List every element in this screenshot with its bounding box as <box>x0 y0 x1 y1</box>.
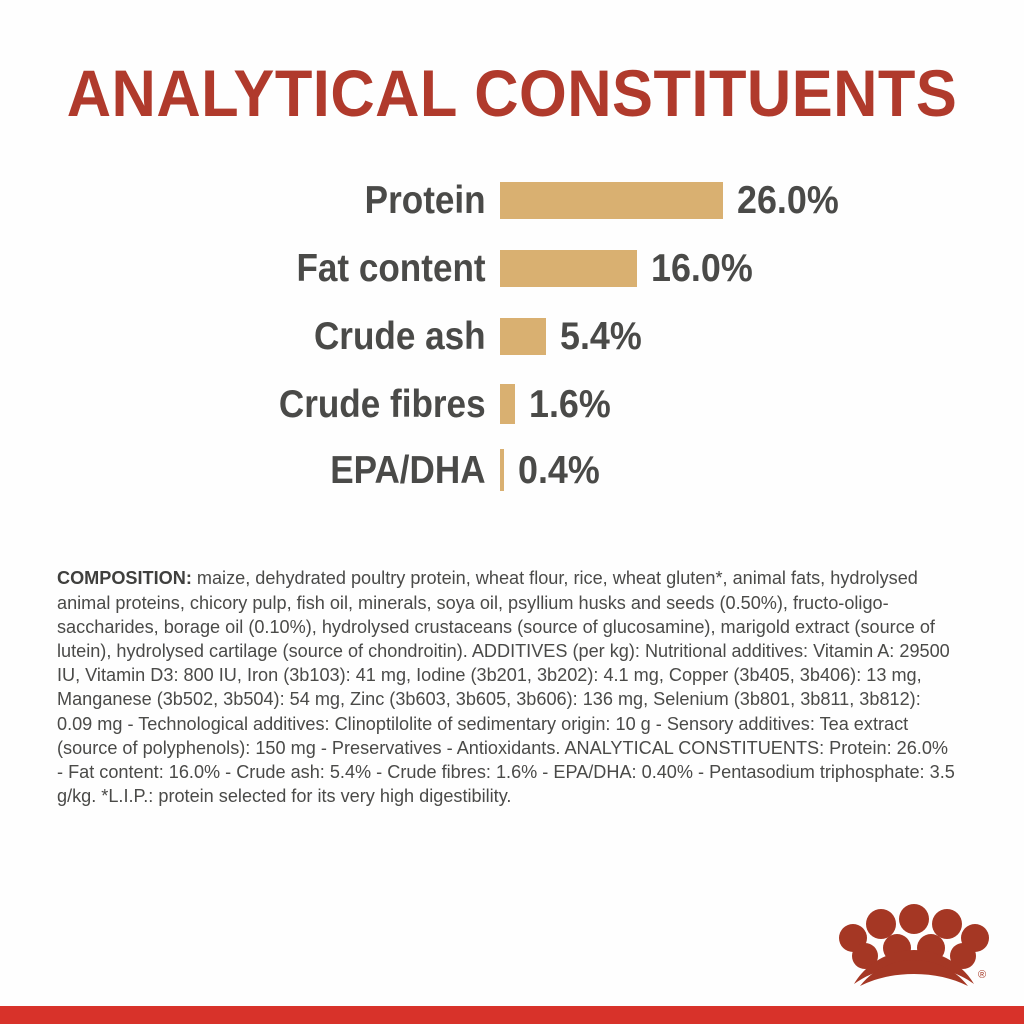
chart-label-crude-ash: Crude ash <box>50 317 500 356</box>
bottom-accent-bar <box>0 1006 1024 1024</box>
chart-bar-wrap-crude-ash: 5.4% <box>500 317 1024 356</box>
page-title: ANALYTICAL CONSTITUENTS <box>36 55 988 131</box>
chart-row-protein: Protein 26.0% <box>0 172 1024 228</box>
chart-bar-fat-content <box>500 250 637 287</box>
chart-bar-protein <box>500 182 723 219</box>
chart-value-protein: 26.0% <box>737 181 839 220</box>
chart-row-crude-ash: Crude ash 5.4% <box>0 308 1024 364</box>
chart-bar-wrap-fat-content: 16.0% <box>500 249 1024 288</box>
chart-value-epa-dha: 0.4% <box>518 451 600 490</box>
chart-row-crude-fibres: Crude fibres 1.6% <box>0 376 1024 432</box>
chart-row-epa-dha: EPA/DHA 0.4% <box>0 442 1024 498</box>
chart-row-fat-content: Fat content 16.0% <box>0 240 1024 296</box>
chart-bar-wrap-crude-fibres: 1.6% <box>500 384 1024 424</box>
chart-value-crude-fibres: 1.6% <box>529 385 611 424</box>
chart-label-epa-dha: EPA/DHA <box>50 451 500 490</box>
royal-canin-crown-logo: ® <box>838 900 990 986</box>
chart-bar-wrap-protein: 26.0% <box>500 181 1024 220</box>
composition-body: maize, dehydrated poultry protein, wheat… <box>57 567 955 806</box>
registered-mark: ® <box>978 969 986 981</box>
nutrition-panel: ANALYTICAL CONSTITUENTS Protein 26.0% Fa… <box>0 0 1024 1024</box>
chart-label-crude-fibres: Crude fibres <box>50 385 500 424</box>
chart-label-protein: Protein <box>50 181 500 220</box>
chart-bar-wrap-epa-dha: 0.4% <box>500 449 1024 491</box>
composition-paragraph: COMPOSITION: maize, dehydrated poultry p… <box>57 566 955 808</box>
chart-value-crude-ash: 5.4% <box>560 317 642 356</box>
chart-value-fat-content: 16.0% <box>651 249 753 288</box>
analytical-constituents-chart: Protein 26.0% Fat content 16.0% Crude as… <box>0 172 1024 502</box>
composition-heading: COMPOSITION: <box>57 567 192 588</box>
chart-bar-epa-dha <box>500 449 504 491</box>
chart-bar-crude-ash <box>500 318 546 355</box>
chart-label-fat-content: Fat content <box>50 249 500 288</box>
chart-bar-crude-fibres <box>500 384 515 424</box>
